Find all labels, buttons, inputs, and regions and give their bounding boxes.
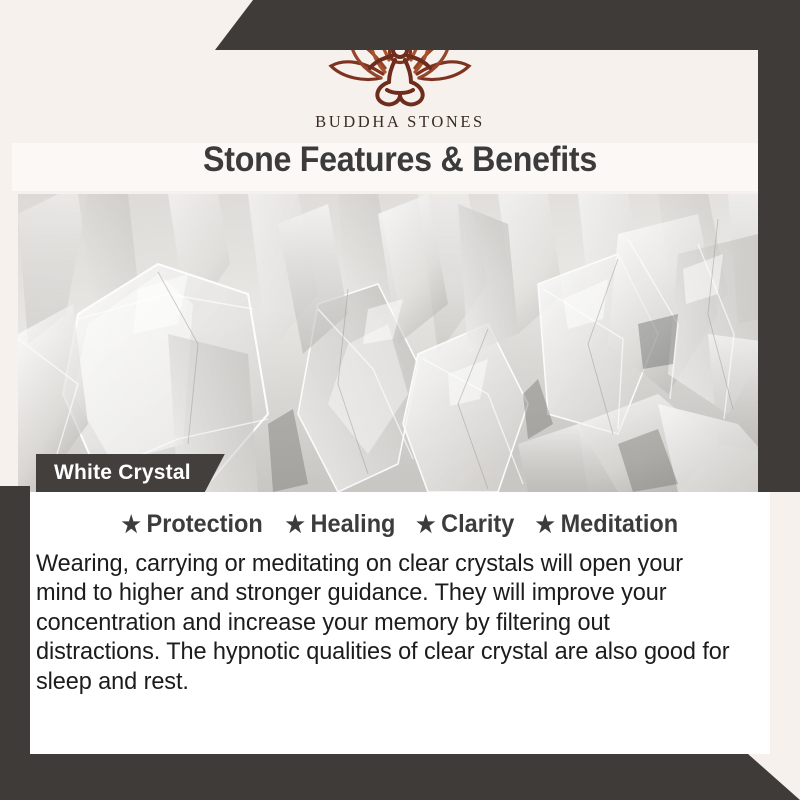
benefit-label: Meditation xyxy=(561,510,679,539)
page-title: Stone Features & Benefits xyxy=(32,140,768,180)
benefit-item-clarity: ★ Clarity xyxy=(416,510,514,539)
infographic-card: BUDDHA STONES Stone Features & Benefits xyxy=(0,0,800,800)
stone-photo: White Crystal xyxy=(18,194,782,492)
benefit-label: Protection xyxy=(147,510,263,539)
description-text: Wearing, carrying or meditating on clear… xyxy=(36,549,733,696)
benefit-label: Healing xyxy=(310,510,395,539)
frame-left xyxy=(0,486,30,800)
content-section: ★ Protection ★ Healing ★ Clarity ★ Medit… xyxy=(30,492,770,754)
benefit-item-healing: ★ Healing xyxy=(285,510,395,539)
benefit-label: Clarity xyxy=(441,510,514,539)
star-icon: ★ xyxy=(122,513,141,536)
frame-right xyxy=(758,0,800,492)
benefit-item-meditation: ★ Meditation xyxy=(536,510,679,539)
frame-top-right xyxy=(215,0,800,50)
frame-bottom xyxy=(0,754,800,800)
crystal-cluster-image xyxy=(18,194,782,492)
star-icon: ★ xyxy=(416,513,435,536)
star-icon: ★ xyxy=(536,513,555,536)
star-icon: ★ xyxy=(285,513,304,536)
benefit-item-protection: ★ Protection xyxy=(122,510,263,539)
stone-name-label: White Crystal xyxy=(36,454,225,492)
benefits-list: ★ Protection ★ Healing ★ Clarity ★ Medit… xyxy=(30,492,770,539)
brand-name: BUDDHA STONES xyxy=(0,112,800,132)
